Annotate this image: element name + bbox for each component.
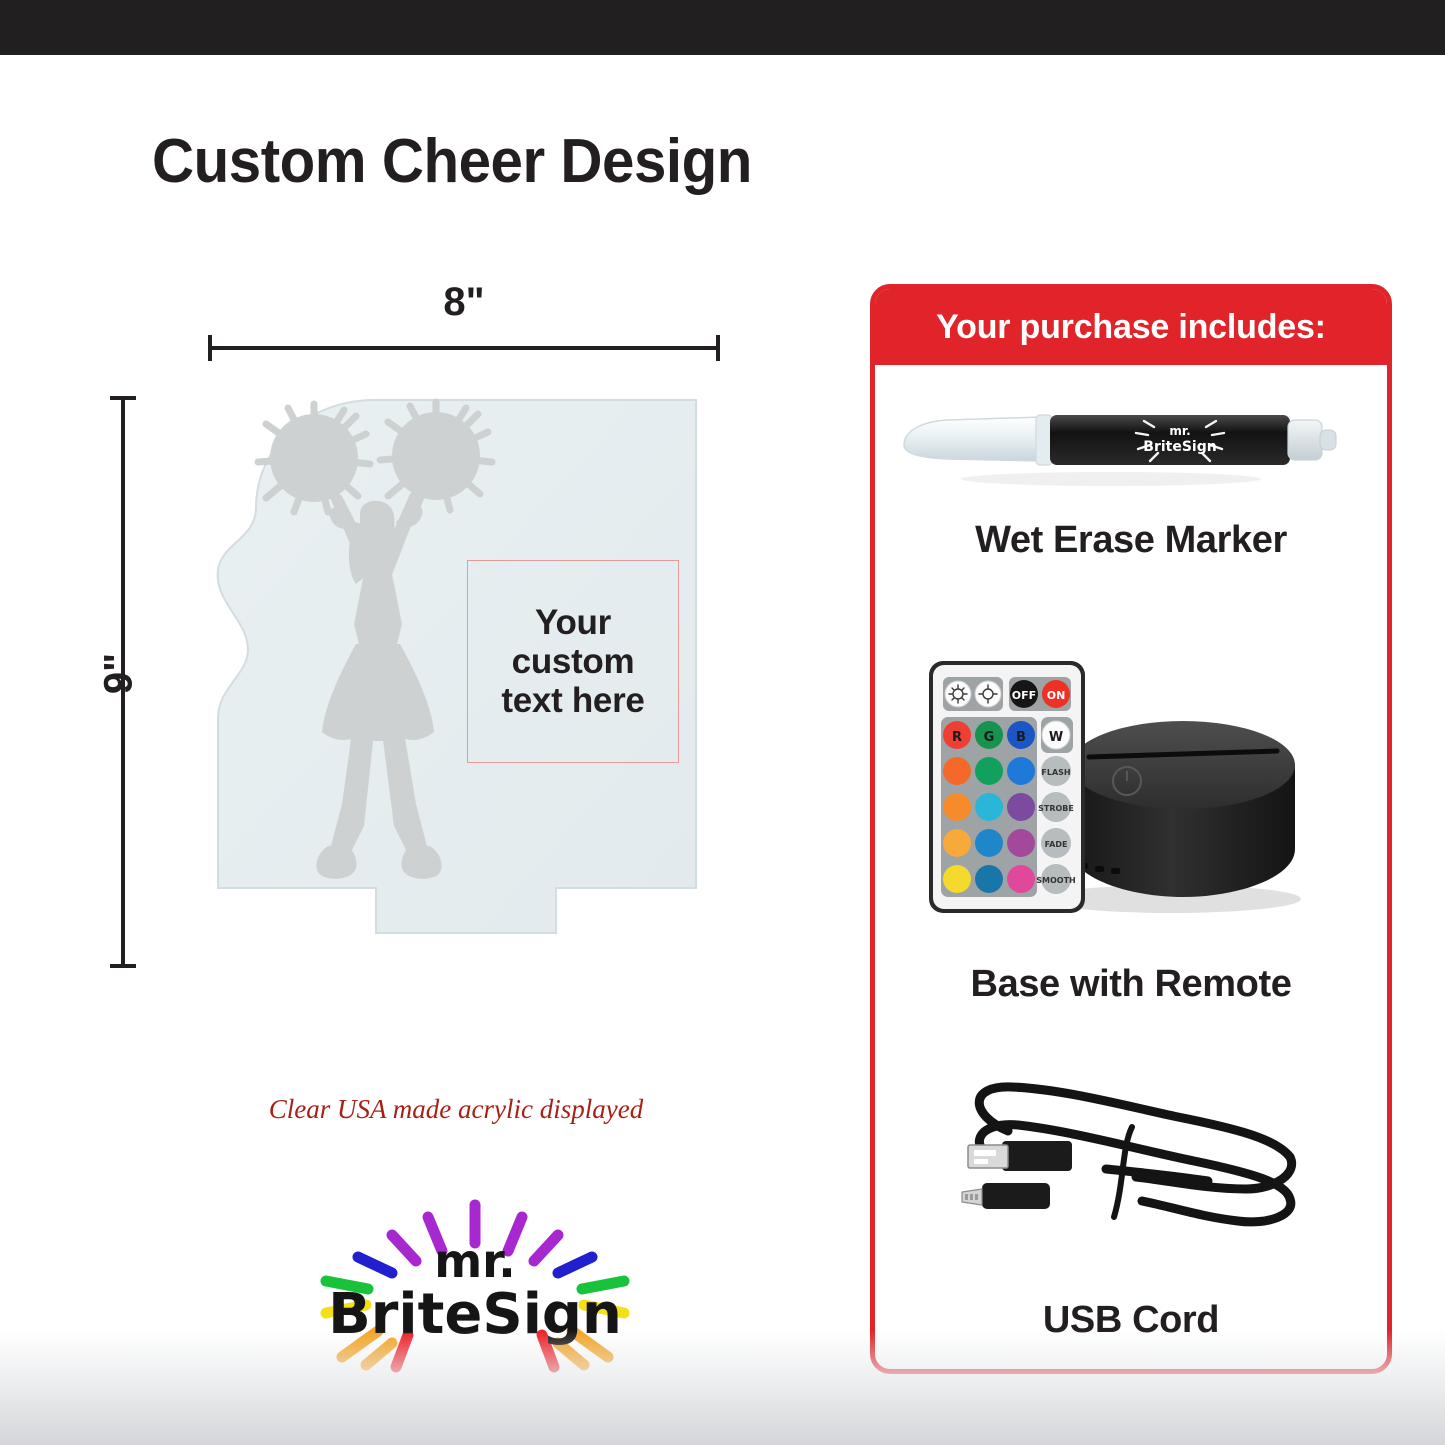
marker-icon: mr. BriteSign [896,387,1366,497]
include-item-marker: mr. BriteSign Wet Erase Marker [875,387,1387,562]
usb-cord-icon [946,1065,1316,1255]
svg-text:STROBE: STROBE [1038,804,1074,813]
purchase-includes-card: Your purchase includes: [870,284,1392,1374]
svg-text:G: G [984,730,995,745]
svg-text:mr.: mr. [1169,424,1190,438]
logo-text-line-1: mr. [434,1234,516,1288]
svg-text:B: B [1016,730,1026,745]
width-dimension-label: 8" [208,280,720,325]
remote-off-label: OFF [1012,689,1036,702]
svg-text:R: R [952,730,962,745]
svg-text:W: W [1049,730,1063,745]
card-header-label: Your purchase includes: [936,308,1326,347]
top-black-bar [0,0,1445,55]
marker-label: Wet Erase Marker [875,519,1387,562]
svg-text:FLASH: FLASH [1041,768,1070,777]
svg-text:FADE: FADE [1045,840,1068,849]
height-dimension-label: 9" [97,614,142,734]
card-header: Your purchase includes: [875,289,1387,365]
height-dimension-line: 9" [121,396,125,968]
base-label: Base with Remote [875,963,1387,1006]
page-title: Custom Cheer Design [152,126,752,197]
svg-text:SMOOTH: SMOOTH [1036,876,1075,885]
card-body: mr. BriteSign Wet Erase Marker [875,365,1387,1365]
remote-on-label: ON [1047,689,1066,702]
width-dimension-line: 8" [208,346,720,350]
svg-text:BriteSign: BriteSign [1143,439,1216,455]
product-listing-image: Custom Cheer Design 8" 9" [0,0,1445,1445]
include-item-base: OFF ON R G B [875,653,1387,1006]
acrylic-note: Clear USA made acrylic displayed [196,1094,716,1125]
custom-text-line-1: Your [535,603,611,642]
base-remote-icon: OFF ON R G B [921,653,1341,923]
include-item-usb: USB Cord [875,1065,1387,1342]
custom-text-placeholder-box: Your custom text here [467,560,679,763]
bottom-gradient [0,1330,1445,1445]
custom-text-line-3: text here [501,681,644,720]
custom-text-line-2: custom [512,642,635,681]
